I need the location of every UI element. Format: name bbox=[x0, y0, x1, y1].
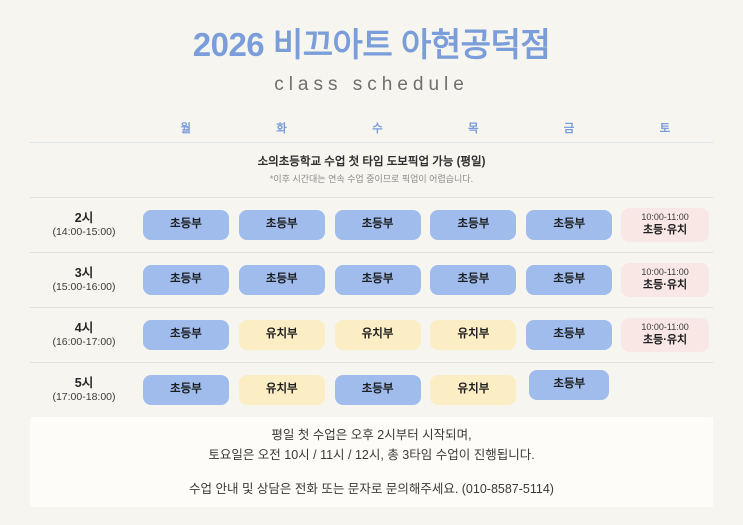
class-chip[interactable]: 초등부 bbox=[526, 210, 612, 240]
page-subtitle: class schedule bbox=[0, 75, 743, 96]
empty-slot bbox=[622, 375, 708, 405]
saturday-time-label: 10:00-11:00 bbox=[641, 212, 688, 223]
poster-header: 2026 비끄아트 아현공덕점 class schedule bbox=[0, 0, 743, 96]
slot-fri: 초등부 bbox=[521, 308, 617, 362]
time-range: (15:00-16:00) bbox=[30, 281, 138, 294]
day-header-mon: 월 bbox=[138, 120, 234, 136]
day-header-tue: 화 bbox=[234, 120, 330, 136]
day-header-wed: 수 bbox=[330, 120, 426, 136]
class-chip[interactable]: 초등부 bbox=[335, 210, 421, 240]
pickup-notice-sub: *이후 시간대는 연속 수업 중이므로 픽업이 어렵습니다. bbox=[30, 173, 713, 186]
slot-thu: 유치부 bbox=[426, 363, 522, 417]
slot-fri: 초등부 bbox=[521, 198, 617, 252]
time-label: 3시 bbox=[30, 265, 138, 281]
slot-wed: 유치부 bbox=[330, 308, 426, 362]
slot-tue: 초등부 bbox=[234, 198, 330, 252]
pickup-notice: 소의초등학교 수업 첫 타임 도보픽업 가능 (평일) *이후 시간대는 연속 … bbox=[30, 143, 713, 197]
slot-tue: 유치부 bbox=[234, 363, 330, 417]
page-title: 2026 비끄아트 아현공덕점 bbox=[0, 26, 743, 65]
class-chip[interactable]: 유치부 bbox=[239, 320, 325, 350]
saturday-time-label: 10:00-11:00 bbox=[641, 322, 688, 333]
schedule-poster: 2026 비끄아트 아현공덕점 class schedule 월 화 수 목 금… bbox=[0, 0, 743, 525]
slot-thu: 초등부 bbox=[426, 253, 522, 307]
time-label: 2시 bbox=[30, 210, 138, 226]
day-header-fri: 금 bbox=[521, 120, 617, 136]
class-chip[interactable]: 초등부 bbox=[335, 265, 421, 295]
saturday-class-label: 초등·유치 bbox=[643, 279, 687, 293]
saturday-class-label: 초등·유치 bbox=[643, 334, 687, 348]
day-header-thu: 목 bbox=[426, 120, 522, 136]
footer-panel: 평일 첫 수업은 오후 2시부터 시작되며, 토요일은 오전 10시 / 11시… bbox=[30, 417, 713, 507]
time-cell: 4시 (16:00-17:00) bbox=[30, 320, 138, 349]
time-range: (17:00-18:00) bbox=[30, 391, 138, 404]
class-chip[interactable]: 초등부 bbox=[143, 320, 229, 350]
slot-fri: 초등부 bbox=[521, 363, 617, 417]
time-label: 5시 bbox=[30, 375, 138, 391]
saturday-class-label: 초등·유치 bbox=[643, 224, 687, 238]
table-row: 5시 (17:00-18:00) 초등부 유치부 초등부 유치부 초등부 bbox=[30, 363, 713, 417]
slot-mon: 초등부 bbox=[138, 363, 234, 417]
slot-sat bbox=[617, 363, 713, 417]
time-range: (14:00-15:00) bbox=[30, 226, 138, 239]
slot-tue: 초등부 bbox=[234, 253, 330, 307]
slot-sat: 10:00-11:00 초등·유치 bbox=[617, 253, 713, 307]
class-chip[interactable]: 초등부 bbox=[143, 210, 229, 240]
class-chip[interactable]: 유치부 bbox=[430, 320, 516, 350]
class-chip[interactable]: 초등부 bbox=[239, 265, 325, 295]
slot-sat: 10:00-11:00 초등·유치 bbox=[617, 198, 713, 252]
saturday-time-label: 10:00-11:00 bbox=[641, 267, 688, 278]
saturday-class-chip[interactable]: 10:00-11:00 초등·유치 bbox=[621, 318, 709, 352]
time-range: (16:00-17:00) bbox=[30, 336, 138, 349]
saturday-class-chip[interactable]: 10:00-11:00 초등·유치 bbox=[621, 263, 709, 297]
table-row: 3시 (15:00-16:00) 초등부 초등부 초등부 초등부 초등부 10:… bbox=[30, 253, 713, 307]
slot-mon: 초등부 bbox=[138, 308, 234, 362]
slot-mon: 초등부 bbox=[138, 198, 234, 252]
pickup-notice-main: 소의초등학교 수업 첫 타임 도보픽업 가능 (평일) bbox=[30, 154, 713, 170]
time-cell: 2시 (14:00-15:00) bbox=[30, 210, 138, 239]
schedule-table: 월 화 수 목 금 토 소의초등학교 수업 첫 타임 도보픽업 가능 (평일) … bbox=[30, 114, 713, 417]
slot-mon: 초등부 bbox=[138, 253, 234, 307]
class-chip[interactable]: 초등부 bbox=[526, 320, 612, 350]
footer-line-2: 토요일은 오전 10시 / 11시 / 12시, 총 3타임 수업이 진행됩니다… bbox=[208, 445, 534, 466]
time-cell: 3시 (15:00-16:00) bbox=[30, 265, 138, 294]
slot-tue: 유치부 bbox=[234, 308, 330, 362]
time-cell: 5시 (17:00-18:00) bbox=[30, 375, 138, 404]
class-chip[interactable]: 초등부 bbox=[143, 375, 229, 405]
class-chip[interactable]: 초등부 bbox=[430, 210, 516, 240]
class-chip[interactable]: 초등부 bbox=[526, 265, 612, 295]
slot-wed: 초등부 bbox=[330, 253, 426, 307]
footer-line-1: 평일 첫 수업은 오후 2시부터 시작되며, bbox=[271, 425, 471, 446]
slot-thu: 유치부 bbox=[426, 308, 522, 362]
class-chip[interactable]: 초등부 bbox=[239, 210, 325, 240]
class-chip[interactable]: 초등부 bbox=[143, 265, 229, 295]
slot-sat: 10:00-11:00 초등·유치 bbox=[617, 308, 713, 362]
class-chip[interactable]: 유치부 bbox=[430, 375, 516, 405]
class-chip[interactable]: 초등부 bbox=[529, 370, 609, 400]
table-row: 4시 (16:00-17:00) 초등부 유치부 유치부 유치부 초등부 10:… bbox=[30, 308, 713, 362]
time-label: 4시 bbox=[30, 320, 138, 336]
slot-wed: 초등부 bbox=[330, 363, 426, 417]
class-chip[interactable]: 유치부 bbox=[335, 320, 421, 350]
slot-fri: 초등부 bbox=[521, 253, 617, 307]
footer-contact-line: 수업 안내 및 상담은 전화 또는 문자로 문의해주세요. (010-8587-… bbox=[189, 479, 554, 500]
day-header-sat: 토 bbox=[617, 120, 713, 136]
class-chip[interactable]: 유치부 bbox=[239, 375, 325, 405]
slot-wed: 초등부 bbox=[330, 198, 426, 252]
day-header-row: 월 화 수 목 금 토 bbox=[30, 114, 713, 142]
table-row: 2시 (14:00-15:00) 초등부 초등부 초등부 초등부 초등부 10:… bbox=[30, 198, 713, 252]
class-chip[interactable]: 초등부 bbox=[335, 375, 421, 405]
class-chip[interactable]: 초등부 bbox=[430, 265, 516, 295]
saturday-class-chip[interactable]: 10:00-11:00 초등·유치 bbox=[621, 208, 709, 242]
slot-thu: 초등부 bbox=[426, 198, 522, 252]
